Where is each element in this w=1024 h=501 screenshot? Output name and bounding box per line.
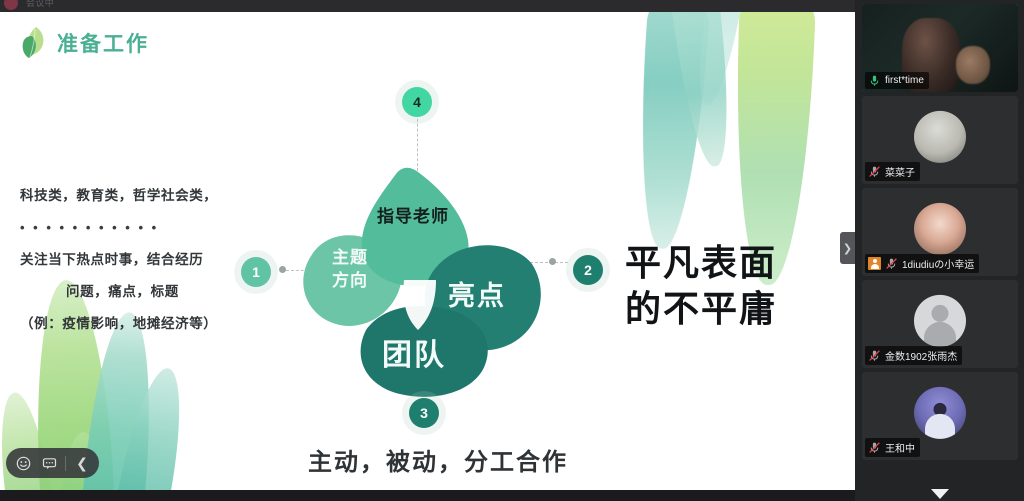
chevron-right-icon: ❯ xyxy=(843,242,852,255)
right-headline-line2: 的不平庸 xyxy=(625,286,777,332)
mic-muted-icon xyxy=(885,257,898,270)
participant-name: first*time xyxy=(885,75,924,86)
chat-bubble-icon xyxy=(42,456,57,471)
emoji-reaction-button[interactable] xyxy=(10,451,36,475)
avatar xyxy=(914,295,966,347)
watercolor-grass-icon xyxy=(114,363,194,490)
window-topbar: 会议中 xyxy=(0,0,855,12)
participant-name-chip: 1diudiuの小幸运 xyxy=(865,254,979,273)
badge-4: 4 xyxy=(402,87,432,117)
collapse-toolbar-button[interactable]: ❮ xyxy=(69,451,95,475)
mic-muted-icon xyxy=(868,441,881,454)
petal-label-left-line2: 方向 xyxy=(332,269,368,292)
participant-tile[interactable]: 1diudiuの小幸运 xyxy=(862,188,1018,276)
petal-label-left: 主题 方向 xyxy=(332,246,368,292)
badge-3: 3 xyxy=(409,398,439,428)
participant-tile[interactable]: 王和中 xyxy=(862,372,1018,460)
badge-1: 1 xyxy=(241,257,271,287)
participant-name-chip: first*time xyxy=(865,72,929,89)
chat-button[interactable] xyxy=(36,451,62,475)
connector-dot-1 xyxy=(279,266,286,273)
petal-diagram: 主题 方向 指导老师 亮点 团队 xyxy=(300,152,560,402)
petal-label-top: 指导老师 xyxy=(377,202,449,227)
left-text-line: 科技类，教育类，哲学社会类， xyxy=(20,180,270,212)
participant-name: 金数1902张雨杰 xyxy=(885,348,957,363)
watercolor-leaf-icon xyxy=(631,12,711,251)
floating-toolbar: ❮ xyxy=(6,448,99,478)
petal-label-left-line1: 主题 xyxy=(332,246,368,269)
meeting-window: 会议中 准备工作 科技类，教育类，哲学社会类， • • xyxy=(0,0,1024,501)
avatar-body xyxy=(924,322,956,347)
watercolor-leaf-icon xyxy=(669,12,739,169)
topbar-label: 会议中 xyxy=(26,0,54,9)
participant-tile[interactable]: 菜菜子 xyxy=(862,96,1018,184)
avatar-body xyxy=(925,414,955,439)
caret-down-icon[interactable] xyxy=(931,489,949,499)
avatar xyxy=(914,203,966,255)
mic-muted-icon xyxy=(868,165,881,178)
participant-name-chip: 金数1902张雨杰 xyxy=(865,346,962,365)
badge-2: 2 xyxy=(573,255,603,285)
shared-screen-slide: 准备工作 科技类，教育类，哲学社会类， • • • • • • • • • • … xyxy=(0,12,855,490)
avatar xyxy=(914,387,966,439)
petal-label-right: 亮点 xyxy=(448,274,506,313)
participant-name: 1diudiuの小幸运 xyxy=(902,256,974,271)
participant-tile[interactable]: 金数1902张雨杰 xyxy=(862,280,1018,368)
petal-label-bottom: 团队 xyxy=(382,330,446,374)
mic-unmuted-icon xyxy=(868,74,881,87)
participant-tile[interactable]: first*time xyxy=(862,4,1018,92)
expand-panel-handle[interactable]: ❯ xyxy=(840,232,855,264)
host-icon xyxy=(868,257,881,270)
record-indicator-icon xyxy=(4,0,18,10)
toolbar-divider xyxy=(65,456,66,471)
avatar-head xyxy=(932,305,949,322)
left-text-line: 关注当下热点时事，结合经历 xyxy=(20,244,270,276)
mic-muted-icon xyxy=(868,349,881,362)
bottom-caption: 主动，被动，分工合作 xyxy=(308,442,568,477)
right-headline-line1: 平凡表面 xyxy=(625,240,777,286)
page-title: 准备工作 xyxy=(57,28,149,58)
leaf-icon xyxy=(18,26,48,60)
participant-name-chip: 菜菜子 xyxy=(865,162,920,181)
left-text-block: 科技类，教育类，哲学社会类， • • • • • • • • • • • 关注当… xyxy=(20,180,270,340)
avatar xyxy=(914,111,966,163)
participant-name: 菜菜子 xyxy=(885,164,915,179)
slide-bottom-strip xyxy=(0,490,855,501)
participants-rail[interactable]: first*time 菜菜子 xyxy=(856,0,1024,501)
watercolor-leaf-icon xyxy=(690,12,744,108)
hand-silhouette xyxy=(956,46,990,84)
participant-name-chip: 王和中 xyxy=(865,438,920,457)
right-headline: 平凡表面 的不平庸 xyxy=(625,240,777,332)
chevron-left-icon: ❮ xyxy=(76,455,88,472)
emoji-icon xyxy=(16,456,31,471)
left-text-line: 问题，痛点，标题 xyxy=(20,276,270,308)
left-text-line: （例：疫情影响，地摊经济等） xyxy=(20,308,270,340)
slide-title-row: 准备工作 xyxy=(18,26,149,60)
left-text-dots: • • • • • • • • • • • xyxy=(20,212,270,244)
participant-name: 王和中 xyxy=(885,440,915,455)
